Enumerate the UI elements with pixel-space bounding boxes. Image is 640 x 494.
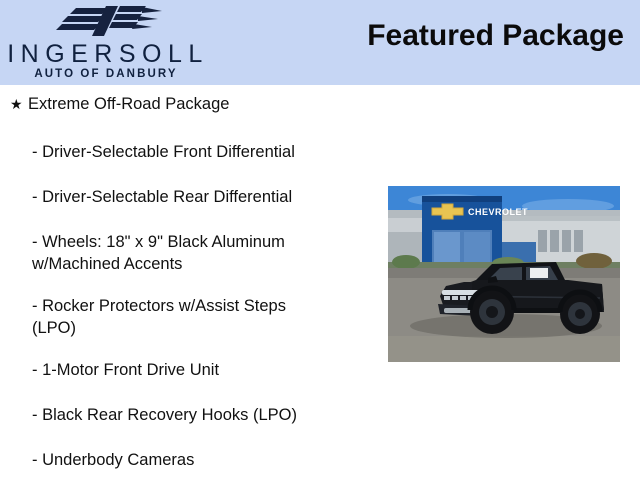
package-heading-row: ★ Extreme Off-Road Package — [8, 93, 364, 115]
list-item: - Underbody Cameras — [32, 449, 362, 471]
brand-tagline: AUTO OF DANBURY — [0, 68, 210, 81]
dealer-logo: INGERSOLL AUTO OF DANBURY — [0, 2, 210, 82]
brand-name: INGERSOLL — [0, 41, 210, 67]
list-item: - Driver-Selectable Rear Differential — [32, 186, 362, 208]
list-item: - Black Rear Recovery Hooks (LPO) — [32, 404, 362, 426]
package-heading: Extreme Off-Road Package — [28, 93, 229, 115]
page-title: Featured Package — [367, 19, 624, 53]
svg-text:CHEVROLET: CHEVROLET — [468, 207, 528, 217]
list-item: - Rocker Protectors w/Assist Steps (LPO) — [32, 295, 362, 339]
package-feature-list: ★ Extreme Off-Road Package - Driver-Sele… — [8, 93, 364, 494]
list-item: - 1-Motor Front Drive Unit — [32, 359, 362, 381]
vehicle-photo: CHEVROLET — [388, 186, 620, 362]
ingersoll-wing-emblem — [46, 3, 164, 39]
list-item: - Driver-Selectable Front Differential — [32, 141, 362, 163]
slide-header: INGERSOLL AUTO OF DANBURY Featured Packa… — [0, 0, 640, 85]
star-bullet-icon: ★ — [8, 93, 28, 115]
vehicle-photo-image: CHEVROLET — [388, 186, 620, 362]
list-item: - Wheels: 18" x 9" Black Aluminum w/Mach… — [32, 231, 362, 275]
